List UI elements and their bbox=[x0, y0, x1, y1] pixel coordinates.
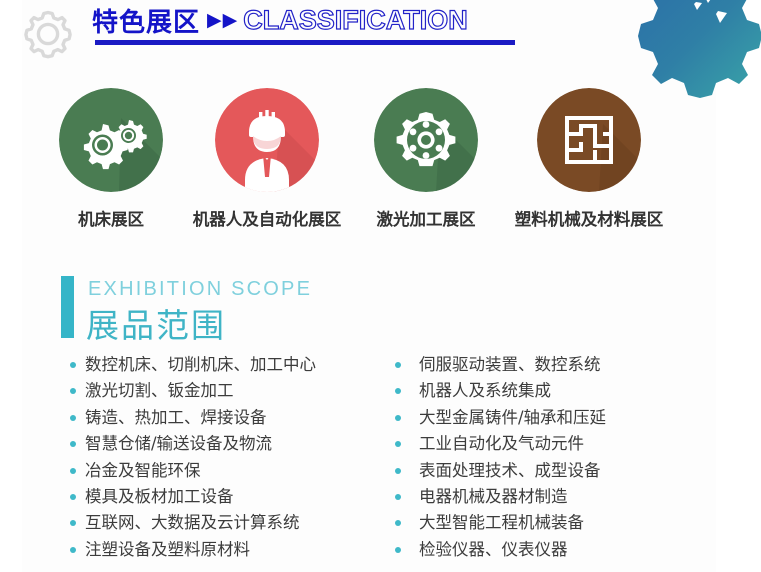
scope-list-item-label: 机器人及系统集成 bbox=[419, 378, 551, 404]
scope-list-item: 模具及板材加工设备 bbox=[70, 484, 390, 510]
bullet-dot-icon bbox=[70, 362, 76, 368]
scope-list-item-label: 智慧仓储/输送设备及物流 bbox=[85, 431, 272, 457]
scope-list-left: 数控机床、切削机床、加工中心激光切割、钣金加工铸造、热加工、焊接设备智慧仓储/输… bbox=[70, 352, 390, 563]
scope-list-item-label: 互联网、大数据及云计算系统 bbox=[85, 510, 300, 536]
header-title-cn: 特色展区 bbox=[92, 8, 200, 38]
laser-gear-icon bbox=[374, 88, 478, 192]
scope-list-item-label: 激光切割、钣金加工 bbox=[85, 378, 234, 404]
scope-list-item: 智慧仓储/输送设备及物流 bbox=[70, 431, 390, 457]
scope-list-item-label: 电器机械及器材制造 bbox=[419, 484, 568, 510]
scope-list-item-label: 铸造、热加工、焊接设备 bbox=[85, 405, 267, 431]
scope-list-item: 铸造、热加工、焊接设备 bbox=[70, 405, 390, 431]
worker-hardhat-icon bbox=[215, 88, 319, 192]
bullet-dot-icon bbox=[70, 547, 76, 553]
bullet-dot-icon bbox=[395, 441, 401, 447]
category-row: 机床展区 机器 bbox=[0, 88, 761, 228]
scope-list-item: 电器机械及器材制造 bbox=[395, 484, 715, 510]
bullet-dot-icon bbox=[395, 547, 401, 553]
scope-list-item-label: 模具及板材加工设备 bbox=[85, 484, 234, 510]
scope-list-item: 检验仪器、仪表仪器 bbox=[395, 537, 715, 563]
bullet-dot-icon bbox=[70, 441, 76, 447]
gear-outline-icon bbox=[22, 8, 74, 60]
scope-list-item-label: 注塑设备及塑料原材料 bbox=[85, 537, 250, 563]
page-root: 特色展区▶▶CLASSIFICATION bbox=[0, 0, 761, 572]
scope-list-item: 激光切割、钣金加工 bbox=[70, 378, 390, 404]
scope-list-item: 机器人及系统集成 bbox=[395, 378, 715, 404]
scope-list-item: 工业自动化及气动元件 bbox=[395, 431, 715, 457]
bullet-dot-icon bbox=[395, 362, 401, 368]
scope-list-item-label: 表面处理技术、成型设备 bbox=[419, 458, 601, 484]
scope-title-cn: 展品范围 bbox=[86, 299, 226, 347]
scope-list-item: 表面处理技术、成型设备 bbox=[395, 458, 715, 484]
bullet-dot-icon bbox=[70, 468, 76, 474]
bullet-dot-icon bbox=[395, 388, 401, 394]
bullet-dot-icon bbox=[70, 388, 76, 394]
scope-list-item: 大型智能工程机械装备 bbox=[395, 510, 715, 536]
bullet-dot-icon bbox=[395, 415, 401, 421]
scope-lists: 数控机床、切削机床、加工中心激光切割、钣金加工铸造、热加工、焊接设备智慧仓储/输… bbox=[0, 352, 761, 572]
section-header: 特色展区▶▶CLASSIFICATION bbox=[0, 0, 761, 84]
double-arrow-icon: ▶▶ bbox=[207, 10, 238, 31]
scope-list-item: 冶金及智能环保 bbox=[70, 458, 390, 484]
header-title-en: CLASSIFICATION bbox=[243, 5, 468, 35]
scope-list-right: 伺服驱动装置、数控系统机器人及系统集成大型金属铸件/轴承和压延工业自动化及气动元… bbox=[395, 352, 715, 563]
bullet-dot-icon bbox=[70, 415, 76, 421]
scope-list-item-label: 工业自动化及气动元件 bbox=[419, 431, 584, 457]
scope-list-item: 互联网、大数据及云计算系统 bbox=[70, 510, 390, 536]
bullet-dot-icon bbox=[395, 468, 401, 474]
bullet-dot-icon bbox=[395, 494, 401, 500]
scope-list-item: 伺服驱动装置、数控系统 bbox=[395, 352, 715, 378]
category-label: 塑料机械及材料展区 bbox=[480, 206, 698, 230]
scope-list-item: 大型金属铸件/轴承和压延 bbox=[395, 405, 715, 431]
scope-list-item-label: 大型智能工程机械装备 bbox=[419, 510, 584, 536]
category-item-plastics[interactable]: 塑料机械及材料展区 bbox=[480, 88, 698, 230]
scope-list-item: 注塑设备及塑料原材料 bbox=[70, 537, 390, 563]
bullet-dot-icon bbox=[70, 520, 76, 526]
header-underline bbox=[95, 40, 515, 45]
scope-list-item: 数控机床、切削机床、加工中心 bbox=[70, 352, 390, 378]
scope-list-item-label: 数控机床、切削机床、加工中心 bbox=[85, 352, 316, 378]
scope-list-item-label: 大型金属铸件/轴承和压延 bbox=[419, 405, 606, 431]
bullet-dot-icon bbox=[70, 494, 76, 500]
mold-blueprint-icon bbox=[537, 88, 641, 192]
scope-accent-bar bbox=[61, 276, 74, 338]
scope-list-item-label: 检验仪器、仪表仪器 bbox=[419, 537, 568, 563]
section-scope-heading: EXHIBITION SCOPE 展品范围 bbox=[0, 272, 761, 342]
scope-list-item-label: 冶金及智能环保 bbox=[85, 458, 201, 484]
gears-icon bbox=[59, 88, 163, 192]
bullet-dot-icon bbox=[395, 520, 401, 526]
scope-title-en: EXHIBITION SCOPE bbox=[88, 278, 312, 301]
scope-list-item-label: 伺服驱动装置、数控系统 bbox=[419, 352, 601, 378]
